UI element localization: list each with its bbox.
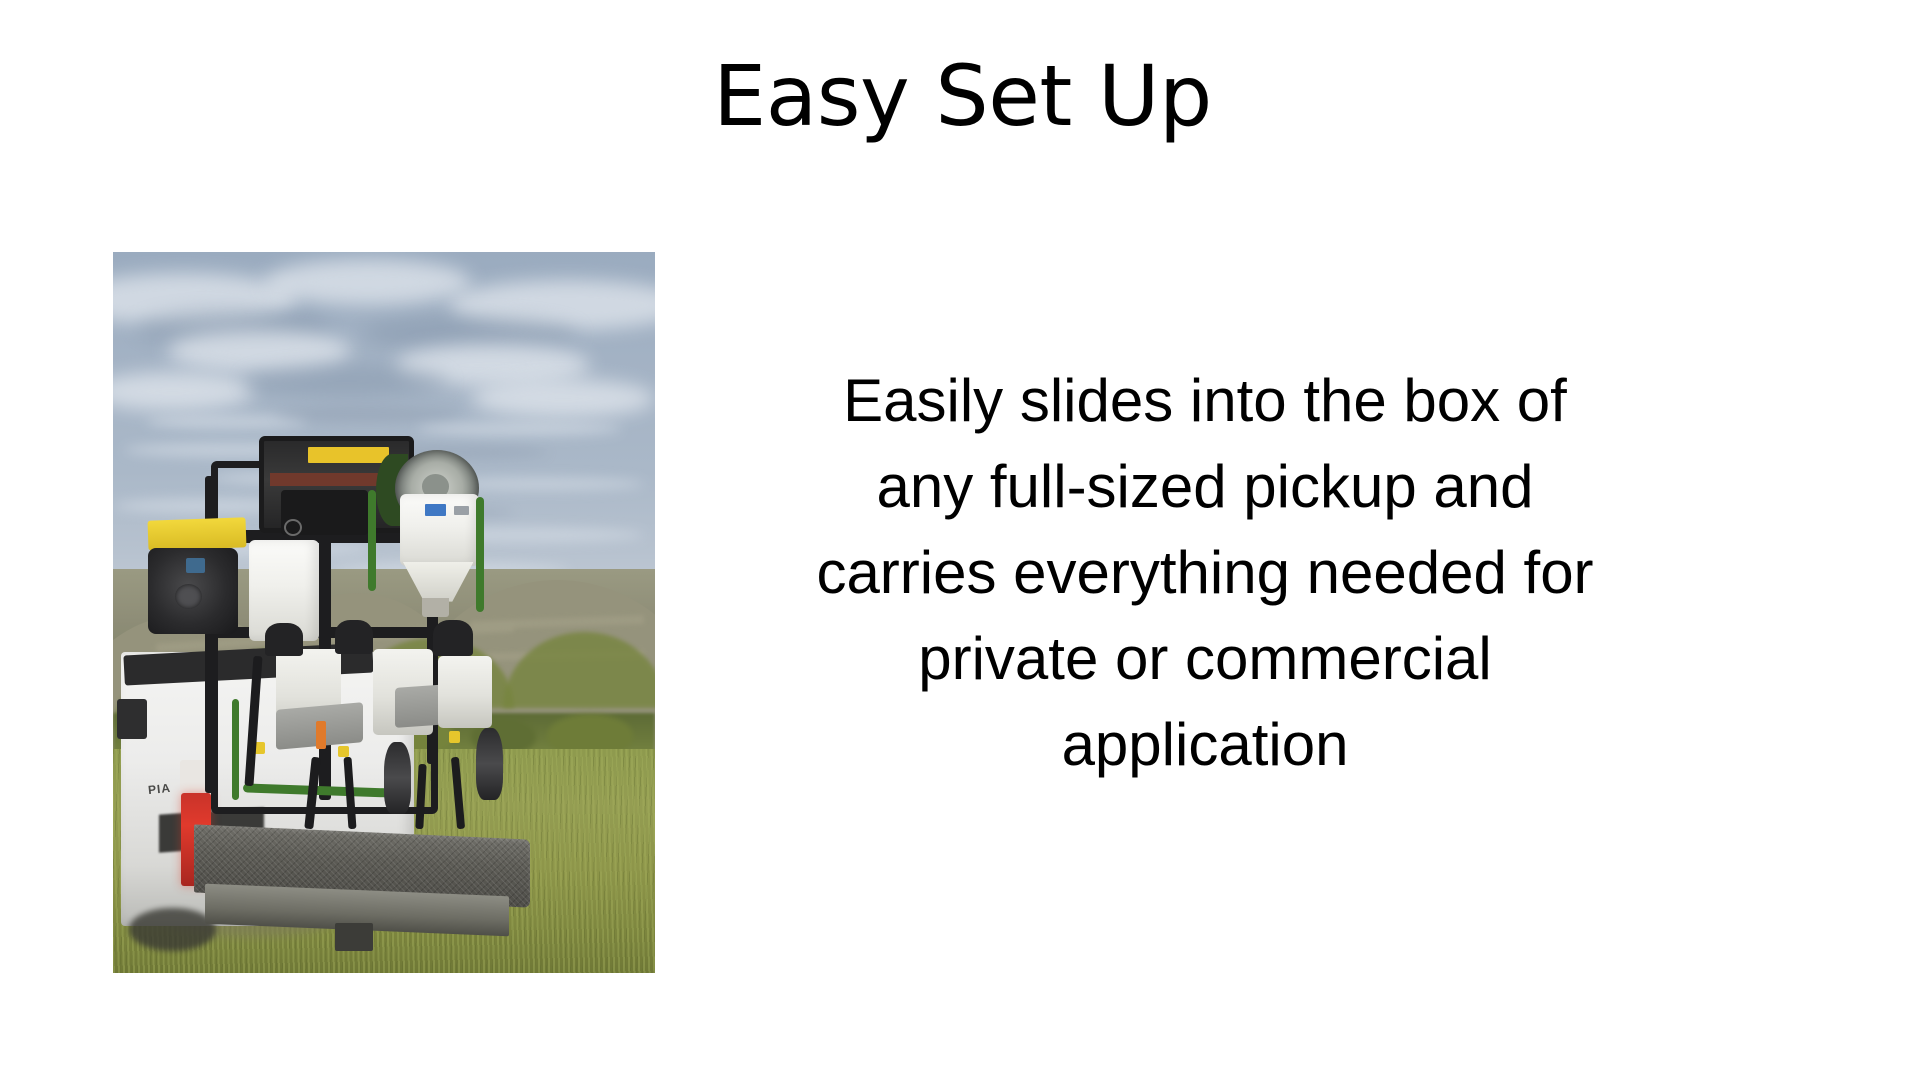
backpack-sprayer-2-valve bbox=[338, 746, 349, 758]
photo-scene: PIA bbox=[113, 252, 655, 973]
wheel-shadow bbox=[129, 908, 216, 951]
body-line-4: private or commercial bbox=[745, 616, 1665, 702]
truck-spray-rig-photo: PIA bbox=[113, 252, 655, 973]
sprayer-nozzle-2 bbox=[476, 728, 503, 800]
side-mirror bbox=[117, 699, 147, 739]
page-title: Easy Set Up bbox=[460, 44, 1465, 148]
hose-vertical-right bbox=[476, 497, 484, 612]
generator-dial bbox=[284, 519, 302, 536]
backpack-sprayer-3-tank bbox=[438, 656, 492, 728]
generator-label bbox=[308, 447, 389, 464]
backpack-sprayer-3-valve bbox=[449, 731, 460, 743]
body-line-1: Easily slides into the box of bbox=[745, 358, 1665, 444]
backpack-sprayer-1-head bbox=[265, 623, 303, 655]
truck-decal: PIA bbox=[148, 781, 172, 797]
body-line-3: carries everything needed for bbox=[745, 530, 1665, 616]
backpack-sprayer-2-head bbox=[335, 620, 373, 655]
sprayer-nozzle-1 bbox=[384, 742, 411, 814]
motor-badge bbox=[186, 558, 204, 572]
backpack-sprayer-1-clip bbox=[316, 721, 326, 750]
slide: Easy Set Up bbox=[0, 0, 1920, 1080]
backpack-sprayer-3-head bbox=[433, 620, 474, 656]
body-line-2: any full-sized pickup and bbox=[745, 444, 1665, 530]
body-line-5: application bbox=[745, 702, 1665, 788]
hopper-cap bbox=[422, 598, 449, 617]
tank-label-blue bbox=[425, 504, 447, 516]
hose-vertical-left bbox=[368, 490, 376, 591]
hose-vertical-bed bbox=[232, 699, 239, 800]
trailer-hitch bbox=[335, 923, 373, 952]
body-text: Easily slides into the box of any full-s… bbox=[745, 358, 1665, 788]
yellow-engine-cover bbox=[148, 517, 247, 551]
tank-label-gray bbox=[454, 506, 468, 515]
